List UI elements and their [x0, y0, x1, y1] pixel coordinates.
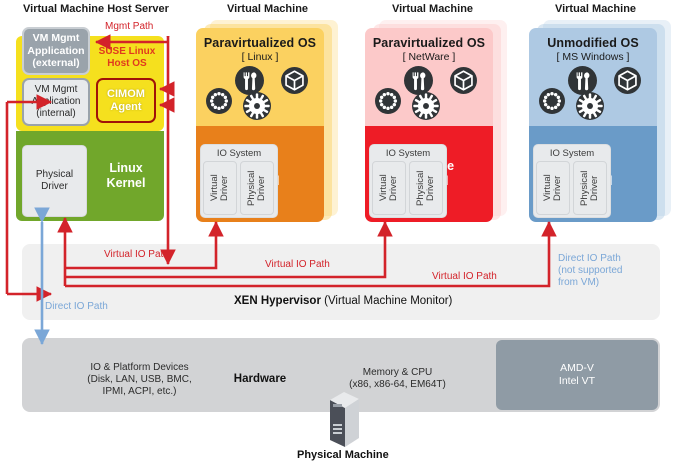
column-title-vm-2: Virtual Machine	[355, 3, 510, 15]
dashed-circle-icon	[375, 88, 401, 114]
column-title-vm-3: Virtual Machine	[518, 3, 673, 15]
cube-icon	[281, 67, 308, 94]
vm-app-icons	[529, 66, 657, 122]
tools-icon	[235, 66, 264, 95]
vm-io-system-label: IO System	[534, 148, 610, 159]
gear-icon	[243, 92, 271, 120]
cimom-agent[interactable]: CIMOM Agent	[96, 78, 156, 123]
vm-virtual-driver-1: Virtual Driver	[203, 161, 237, 215]
physical-machine-label: Physical Machine	[297, 449, 389, 461]
column-title-host-server: Virtual Machine Host Server	[6, 3, 186, 15]
direct-io-path-unsupported-label: Direct IO Path (not supported from VM)	[558, 253, 623, 289]
memory-cpu-label: Memory & CPU (x86, x86-64, EM64T)	[310, 367, 485, 391]
gear-icon	[576, 92, 604, 120]
cube-icon	[614, 67, 641, 94]
vm-virtual-driver-2: Virtual Driver	[372, 161, 406, 215]
vm-physical-driver-3: Physical Driver	[573, 161, 607, 215]
host-physical-driver: Physical Driver	[22, 145, 87, 217]
column-title-vm-1: Virtual Machine	[190, 3, 345, 15]
io-platform-devices-label: IO & Platform Devices (Disk, LAN, USB, B…	[52, 362, 227, 398]
dashed-circle-icon	[206, 88, 232, 114]
vm-mgmt-application-internal[interactable]: VM Mgmt Application (internal)	[22, 78, 90, 126]
vm-physical-driver-2: Physical Driver	[409, 161, 443, 215]
vm-os-subtitle: [ Linux ]	[196, 51, 324, 63]
mgmt-path-label: Mgmt Path	[105, 21, 153, 32]
vm-app-icons	[365, 66, 493, 122]
vm-mgmt-application-external[interactable]: VM Mgmt Application (external)	[22, 27, 90, 75]
hardware-label: Hardware	[215, 373, 305, 385]
vm-io-system-label: IO System	[370, 148, 446, 159]
gear-icon	[412, 92, 440, 120]
vm-os-subtitle: [ NetWare ]	[365, 51, 493, 63]
tools-icon	[404, 66, 433, 95]
vm-virtual-driver-3: Virtual Driver	[536, 161, 570, 215]
vm-io-system-label: IO System	[201, 148, 277, 159]
virtual-io-path-label-1: Virtual IO Path	[104, 249, 169, 260]
vm-app-icons	[196, 66, 324, 122]
vm-physical-driver-1: Physical Driver	[240, 161, 274, 215]
direct-io-path-label: Direct IO Path	[45, 301, 108, 313]
xen-hypervisor-label: XEN Hypervisor (Virtual Machine Monitor)	[234, 295, 452, 307]
virtual-io-path-label-3: Virtual IO Path	[432, 271, 497, 282]
cube-icon	[450, 67, 477, 94]
amd-v-intel-vt-box: AMD-V Intel VT	[496, 340, 658, 410]
vm-os-subtitle: [ MS Windows ]	[529, 51, 657, 63]
vm-os-title: Paravirtualized OS	[365, 36, 493, 50]
linux-kernel-label: Linux Kernel	[92, 161, 160, 191]
diagram-canvas: Virtual Machine Host Server Virtual Mach…	[0, 0, 674, 464]
vm-os-title: Unmodified OS	[529, 36, 657, 50]
tools-icon	[568, 66, 597, 95]
dashed-circle-icon	[539, 88, 565, 114]
vm-os-title: Paravirtualized OS	[196, 36, 324, 50]
suse-host-os-label: SUSE Linux Host OS	[92, 46, 162, 70]
virtual-io-path-label-2: Virtual IO Path	[265, 259, 330, 270]
